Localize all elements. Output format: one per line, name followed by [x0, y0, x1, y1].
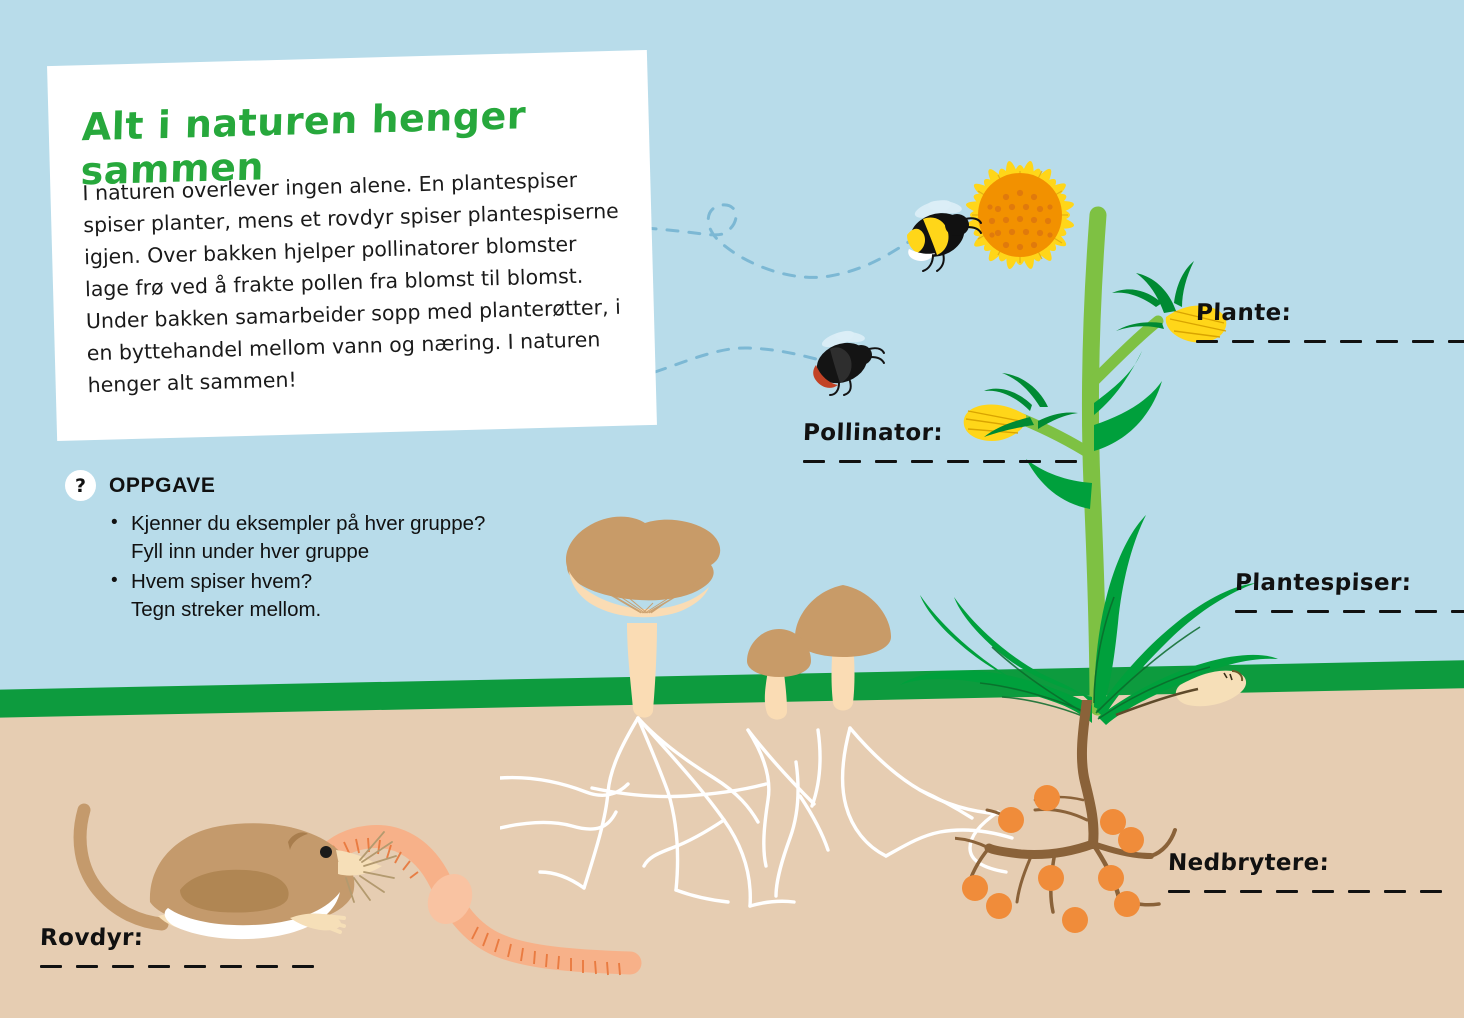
label-rovdyr[interactable]: Rovdyr:: [40, 925, 314, 968]
task-heading: OPPGAVE: [109, 474, 216, 498]
label-plante[interactable]: Plante:: [1196, 300, 1464, 343]
plant-root: [955, 700, 1205, 935]
intro-paragraph: I naturen overlever ingen alene. En plan…: [82, 163, 626, 401]
illustration-canvas: Alt i naturen henger sammen I naturen ov…: [0, 0, 1464, 1018]
label-plante-text: Plante:: [1196, 300, 1464, 326]
answer-line-pollinator[interactable]: [803, 460, 1077, 463]
task-section: ? OPPGAVE Kjenner du eksempler på hver g…: [65, 470, 585, 626]
mushroom-small: [747, 629, 811, 720]
flower-plant: [880, 85, 1280, 725]
label-nedbrytere[interactable]: Nedbrytere:: [1168, 850, 1442, 893]
mushroom-medium: [795, 585, 891, 711]
label-plantespiser[interactable]: Plantespiser:: [1235, 570, 1464, 613]
task-item-line2: Tegn streker mellom.: [131, 596, 585, 624]
list-item: Kjenner du eksempler på hver gruppe? Fyl…: [111, 510, 585, 565]
mushroom-group: [555, 505, 935, 735]
answer-line-plantespiser[interactable]: [1235, 610, 1464, 613]
task-item-line1: Hvem spiser hvem?: [131, 570, 312, 593]
label-pollinator[interactable]: Pollinator:: [803, 420, 1077, 463]
task-heading-row: ? OPPGAVE: [65, 470, 585, 501]
label-pollinator-text: Pollinator:: [803, 420, 1078, 446]
bumblebee-red-tailed: [806, 325, 886, 397]
answer-line-nedbrytere[interactable]: [1168, 890, 1442, 893]
answer-line-plante[interactable]: [1196, 340, 1464, 343]
bumblebee-yellow: [893, 193, 983, 273]
task-item-line1: Kjenner du eksempler på hver gruppe?: [131, 512, 485, 535]
answer-line-rovdyr[interactable]: [40, 965, 314, 968]
task-list: Kjenner du eksempler på hver gruppe? Fyl…: [111, 510, 585, 623]
label-plantespiser-text: Plantespiser:: [1235, 570, 1464, 596]
label-nedbrytere-text: Nedbrytere:: [1168, 850, 1443, 876]
mushroom-large: [566, 517, 720, 718]
task-item-line2: Fyll inn under hver gruppe: [131, 538, 585, 566]
label-rovdyr-text: Rovdyr:: [40, 925, 315, 951]
info-card: Alt i naturen henger sammen I naturen ov…: [47, 50, 657, 441]
question-mark-icon: ?: [65, 470, 96, 501]
list-item: Hvem spiser hvem? Tegn streker mellom.: [111, 568, 585, 623]
